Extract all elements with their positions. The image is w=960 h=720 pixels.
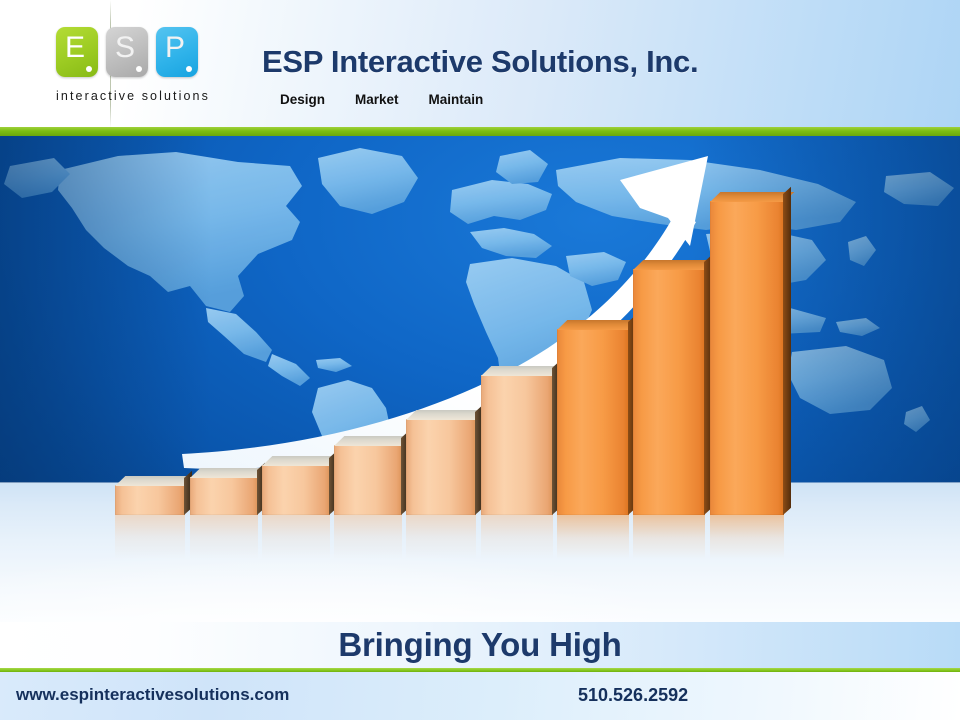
bar-6-face bbox=[481, 375, 553, 515]
bar-8 bbox=[633, 269, 705, 515]
bar-4-reflection bbox=[334, 515, 402, 559]
bar-6-top bbox=[481, 366, 563, 376]
tagline-word-maintain: Maintain bbox=[429, 92, 484, 107]
bar-9-face bbox=[710, 201, 784, 515]
logo-tile-s-letter: S bbox=[115, 31, 135, 65]
logo-tile-e-icon: E bbox=[56, 27, 98, 77]
bar-9-side bbox=[783, 187, 791, 515]
slide-tagline: Bringing You High bbox=[0, 626, 960, 664]
presentation-slide: E S P interactive solutions ESP Interact… bbox=[0, 0, 960, 720]
tagline-word-market: Market bbox=[355, 92, 399, 107]
bar-7-top bbox=[557, 320, 639, 330]
bar-8-top bbox=[633, 260, 715, 270]
logo-tile-e-dot-icon bbox=[86, 66, 92, 72]
bar-1-face bbox=[115, 485, 185, 515]
logo-tile-p-dot-icon bbox=[186, 66, 192, 72]
header-tagline: DesignMarketMaintain bbox=[280, 92, 483, 107]
logo-tile-s-icon: S bbox=[106, 27, 148, 77]
bar-1 bbox=[115, 485, 185, 515]
header-green-divider bbox=[0, 127, 960, 136]
bar-7-face bbox=[557, 329, 629, 515]
page-title: ESP Interactive Solutions, Inc. bbox=[262, 44, 698, 80]
bar-8-face bbox=[633, 269, 705, 515]
bar-5-reflection bbox=[406, 515, 476, 559]
bar-chart bbox=[0, 136, 960, 622]
bar-6-reflection bbox=[481, 515, 553, 559]
slide-header: E S P interactive solutions ESP Interact… bbox=[0, 0, 960, 128]
hero-image bbox=[0, 136, 960, 622]
tagline-word-design: Design bbox=[280, 92, 325, 107]
bar-2 bbox=[190, 477, 258, 515]
bar-4-face bbox=[334, 445, 402, 515]
bar-3-reflection bbox=[262, 515, 330, 559]
bar-5 bbox=[406, 419, 476, 515]
footer-website-link[interactable]: www.espinteractivesolutions.com bbox=[16, 685, 289, 705]
logo-tile-e-letter: E bbox=[65, 31, 85, 65]
bar-1-reflection bbox=[115, 515, 185, 559]
logo-subtitle: interactive solutions bbox=[38, 89, 228, 103]
bar-3 bbox=[262, 465, 330, 515]
bar-2-face bbox=[190, 477, 258, 515]
logo-tile-p-icon: P bbox=[156, 27, 198, 77]
footer-phone-number[interactable]: 510.526.2592 bbox=[578, 685, 688, 706]
bar-7-reflection bbox=[557, 515, 629, 559]
bar-8-reflection bbox=[633, 515, 705, 559]
bar-9 bbox=[710, 201, 784, 515]
bar-2-reflection bbox=[190, 515, 258, 559]
bar-9-top bbox=[710, 192, 794, 202]
bar-5-face bbox=[406, 419, 476, 515]
bar-7 bbox=[557, 329, 629, 515]
logo-tiles: E S P bbox=[56, 27, 198, 79]
bar-3-face bbox=[262, 465, 330, 515]
logo-tile-s-dot-icon bbox=[136, 66, 142, 72]
bar-4 bbox=[334, 445, 402, 515]
esp-logo[interactable]: E S P interactive solutions bbox=[38, 27, 228, 113]
logo-tile-p-letter: P bbox=[165, 31, 185, 65]
bar-6 bbox=[481, 375, 553, 515]
bar-9-reflection bbox=[710, 515, 784, 559]
